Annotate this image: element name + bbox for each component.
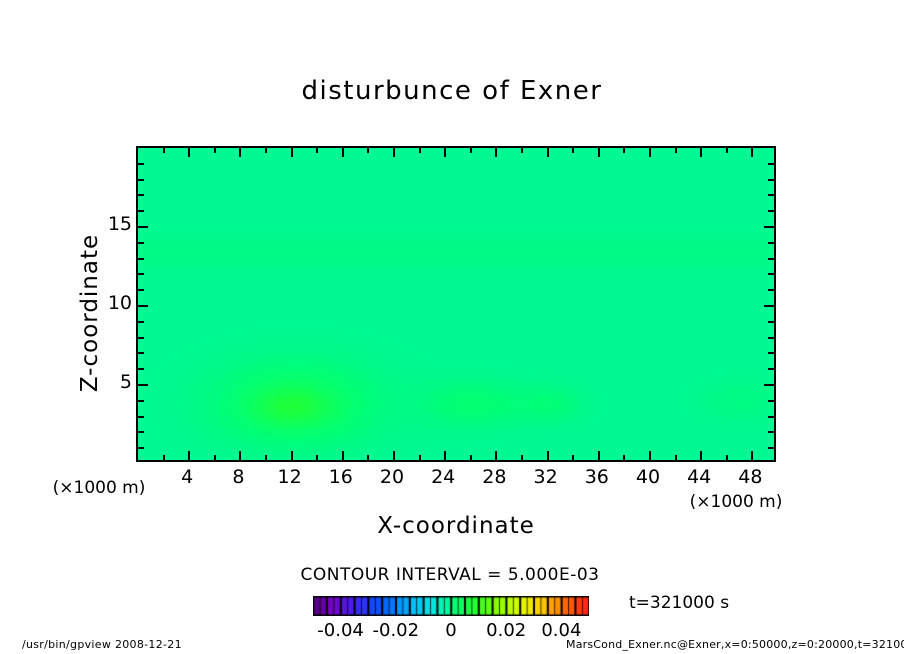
- contour-interval-label: CONTOUR INTERVAL = 5.000E-03: [0, 565, 902, 585]
- y-tick-right: [768, 273, 774, 275]
- x-tick-top: [521, 148, 523, 153]
- x-tick-bottom: [623, 455, 625, 460]
- x-tick-bottom: [291, 451, 293, 460]
- y-tick-right: [764, 226, 774, 228]
- x-tick-top: [393, 148, 395, 157]
- x-tick-top: [342, 148, 344, 157]
- y-tick-left: [138, 447, 144, 449]
- x-tick-top: [572, 148, 574, 153]
- y-tick-right: [768, 163, 774, 165]
- y-axis-title: Z-coordinate: [77, 163, 103, 463]
- x-axis-title: X-coordinate: [136, 513, 776, 539]
- x-tick-top: [214, 148, 216, 153]
- x-tick-top: [163, 148, 165, 153]
- x-tick-label: 48: [720, 466, 780, 488]
- x-tick-bottom: [751, 451, 753, 460]
- x-axis-unit-left: (×1000 m): [34, 478, 164, 498]
- x-tick-top: [419, 148, 421, 153]
- x-tick-top: [751, 148, 753, 157]
- y-tick-left: [138, 384, 148, 386]
- x-tick-top: [239, 148, 241, 157]
- y-tick-left: [138, 431, 144, 433]
- y-tick-left: [138, 163, 144, 165]
- x-tick-bottom: [444, 451, 446, 460]
- y-tick-left: [138, 321, 144, 323]
- colorbar[interactable]: [313, 596, 589, 616]
- y-tick-left: [138, 305, 148, 307]
- y-tick-right: [764, 384, 774, 386]
- y-tick-left: [138, 400, 144, 402]
- y-tick-left: [138, 210, 144, 212]
- y-tick-right: [768, 431, 774, 433]
- x-tick-bottom: [316, 455, 318, 460]
- y-tick-right: [768, 210, 774, 212]
- x-tick-top: [726, 148, 728, 153]
- y-tick-left: [138, 416, 144, 418]
- page-title: disturbunce of Exner: [0, 76, 904, 106]
- x-tick-top: [547, 148, 549, 157]
- x-tick-top: [675, 148, 677, 153]
- y-tick-left: [138, 226, 148, 228]
- x-tick-bottom: [598, 451, 600, 460]
- x-tick-bottom: [572, 455, 574, 460]
- x-tick-top: [291, 148, 293, 157]
- x-tick-top: [367, 148, 369, 153]
- x-tick-bottom: [470, 455, 472, 460]
- footer-dataset-info: MarsCond_Exner.nc@Exner,x=0:50000,z=0:20…: [566, 638, 904, 651]
- y-tick-right: [768, 258, 774, 260]
- contour-field: [138, 148, 774, 460]
- x-tick-top: [316, 148, 318, 153]
- y-tick-right: [768, 337, 774, 339]
- x-tick-bottom: [495, 451, 497, 460]
- x-axis-unit-right: (×1000 m): [676, 492, 796, 512]
- y-tick-left: [138, 273, 144, 275]
- x-tick-top: [700, 148, 702, 157]
- y-tick-right: [768, 400, 774, 402]
- y-tick-right: [768, 194, 774, 196]
- x-tick-bottom: [700, 451, 702, 460]
- x-tick-top: [495, 148, 497, 157]
- x-tick-bottom: [393, 451, 395, 460]
- colorbar-gradient: [313, 596, 589, 616]
- x-tick-bottom: [265, 455, 267, 460]
- y-tick-left: [138, 194, 144, 196]
- x-tick-top: [598, 148, 600, 157]
- x-tick-bottom: [419, 455, 421, 460]
- x-tick-top: [649, 148, 651, 157]
- y-tick-right: [768, 447, 774, 449]
- x-tick-top: [265, 148, 267, 153]
- x-tick-bottom: [214, 455, 216, 460]
- x-tick-top: [444, 148, 446, 157]
- y-tick-left: [138, 179, 144, 181]
- y-tick-right: [768, 352, 774, 354]
- x-tick-bottom: [675, 455, 677, 460]
- y-tick-right: [764, 305, 774, 307]
- y-tick-left: [138, 352, 144, 354]
- x-tick-bottom: [367, 455, 369, 460]
- x-tick-bottom: [239, 451, 241, 460]
- y-tick-left: [138, 337, 144, 339]
- y-tick-right: [768, 416, 774, 418]
- x-tick-bottom: [726, 455, 728, 460]
- y-tick-left: [138, 289, 144, 291]
- y-tick-left: [138, 258, 144, 260]
- x-tick-top: [470, 148, 472, 153]
- x-tick-bottom: [163, 455, 165, 460]
- plot-area[interactable]: [136, 146, 776, 462]
- y-tick-right: [768, 368, 774, 370]
- time-annotation: t=321000 s: [629, 593, 729, 613]
- x-tick-top: [623, 148, 625, 153]
- x-tick-bottom: [547, 451, 549, 460]
- y-tick-right: [768, 321, 774, 323]
- y-tick-left: [138, 368, 144, 370]
- y-tick-left: [138, 242, 144, 244]
- x-tick-bottom: [649, 451, 651, 460]
- y-tick-right: [768, 179, 774, 181]
- y-tick-right: [768, 289, 774, 291]
- x-tick-bottom: [188, 451, 190, 460]
- x-tick-top: [188, 148, 190, 157]
- x-tick-bottom: [342, 451, 344, 460]
- y-tick-right: [768, 242, 774, 244]
- footer-command: /usr/bin/gpview 2008-12-21: [22, 638, 182, 651]
- x-tick-bottom: [521, 455, 523, 460]
